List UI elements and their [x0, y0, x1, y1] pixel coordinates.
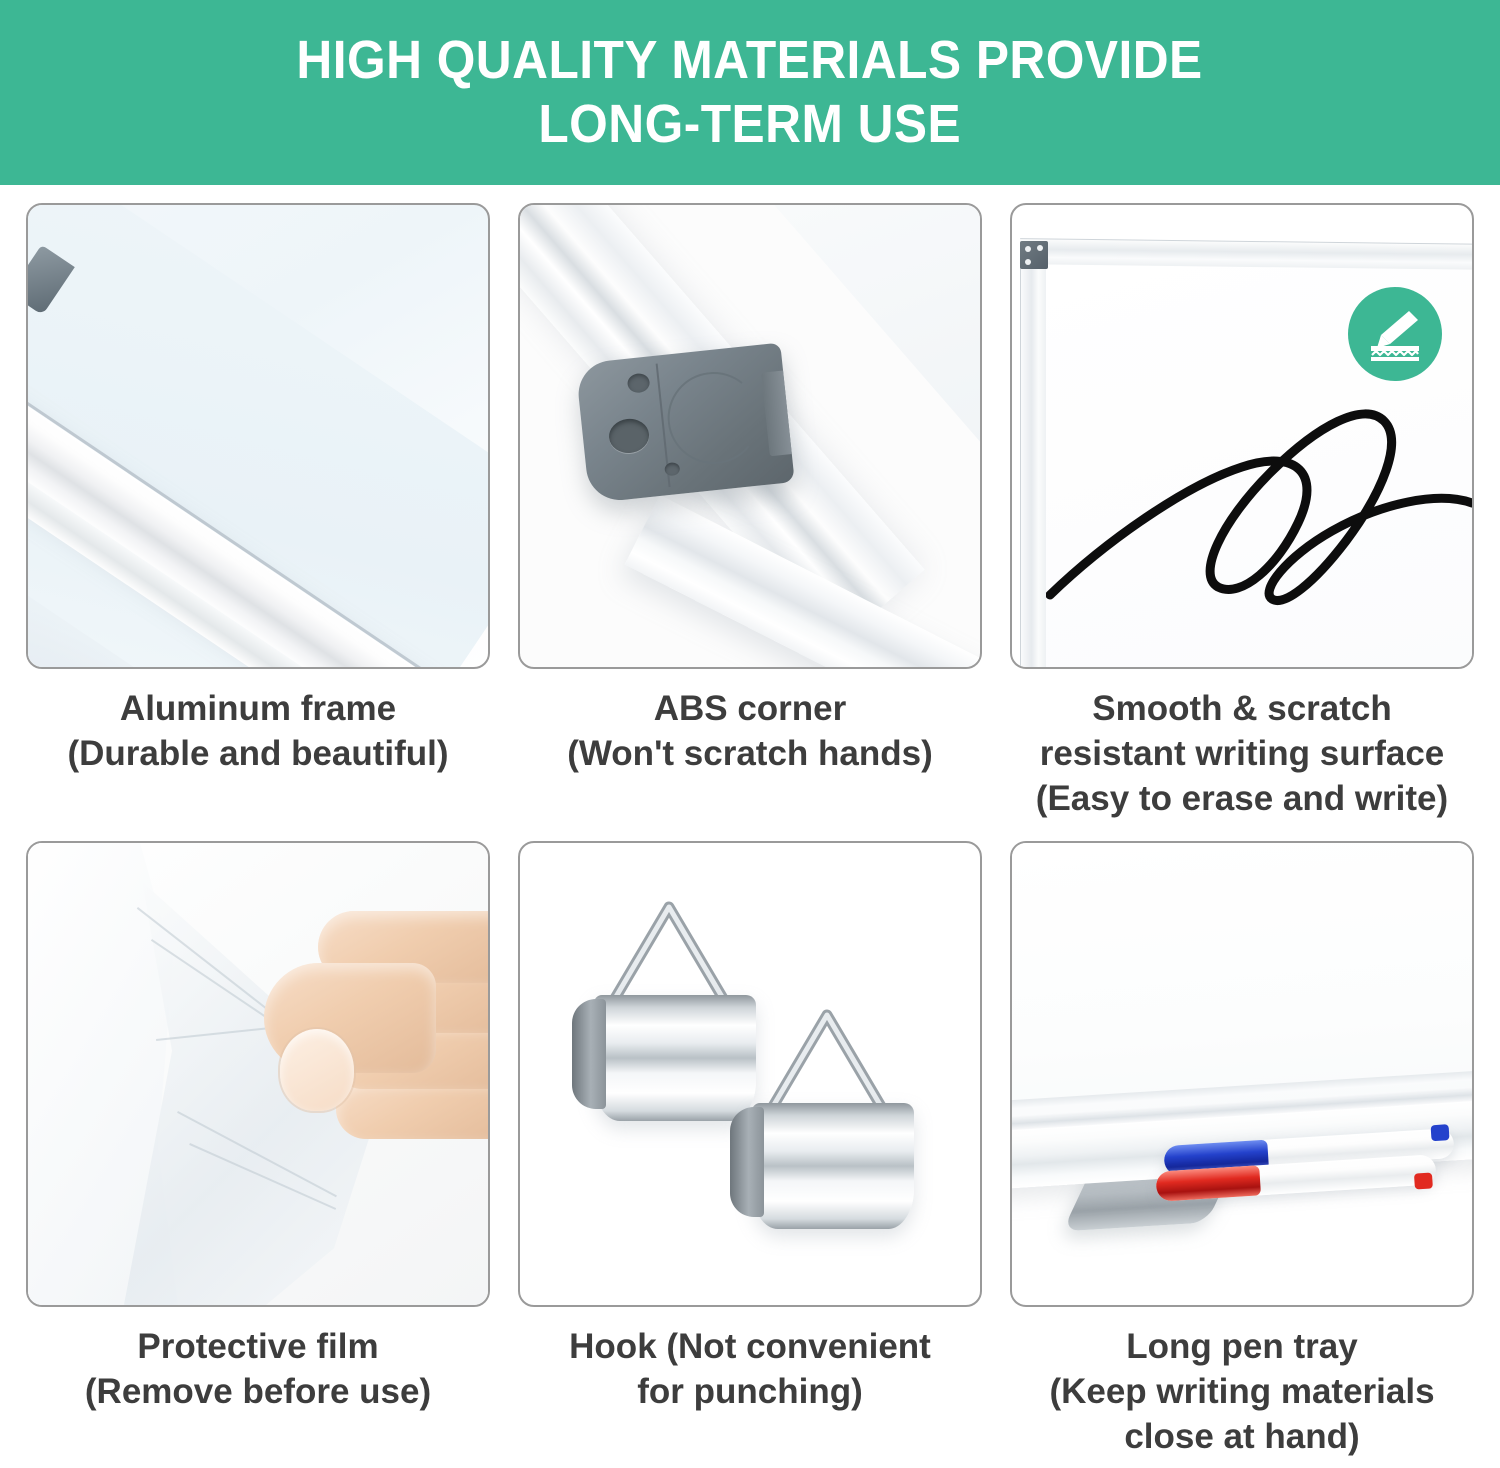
hook-clip-body [752, 1103, 914, 1229]
caption-line: Aluminum frame [30, 687, 486, 732]
thumbnail [280, 1029, 354, 1111]
caption-line: (Easy to erase and write) [1014, 777, 1470, 822]
caption-line: (Durable and beautiful) [30, 732, 486, 777]
caption-aluminum-frame: Aluminum frame (Durable and beautiful) [26, 687, 490, 777]
feature-cell-hook: Hook (Not convenient for punching) [518, 841, 982, 1459]
header-title-line-2: LONG-TERM USE [539, 93, 962, 157]
whiteboard-left-frame [1020, 265, 1046, 669]
abs-arc-detail [663, 367, 764, 468]
caption-line: close at hand) [1014, 1415, 1470, 1460]
caption-line: Protective film [30, 1325, 486, 1370]
whiteboard-top-frame [1020, 238, 1474, 270]
marker-scribble [1046, 345, 1474, 645]
bracket-screw [1037, 245, 1043, 251]
film-scene [28, 843, 488, 1305]
photo-writing-surface [1010, 203, 1474, 669]
thumb [264, 963, 436, 1073]
caption-line: for punching) [522, 1370, 978, 1415]
photo-pen-tray [1010, 841, 1474, 1307]
abs-screw-hole-tiny [664, 462, 680, 476]
pen-writing-on-surface-icon [1363, 302, 1427, 366]
bracket-screw [1025, 259, 1031, 265]
caption-line: (Keep writing materials [1014, 1370, 1470, 1415]
caption-line: Long pen tray [1014, 1325, 1470, 1370]
caption-protective-film: Protective film (Remove before use) [26, 1325, 490, 1415]
red-marker-clip [1414, 1173, 1433, 1190]
bracket-screw [1025, 246, 1031, 252]
caption-abs-corner: ABS corner (Won't scratch hands) [518, 687, 982, 777]
abs-screw-hole-large [607, 417, 650, 455]
feature-cell-pen-tray: Long pen tray (Keep writing materials cl… [1010, 841, 1474, 1459]
caption-pen-tray: Long pen tray (Keep writing materials cl… [1010, 1325, 1474, 1459]
caption-hook: Hook (Not convenient for punching) [518, 1325, 982, 1415]
photo-aluminum-frame [26, 203, 490, 669]
feature-cell-protective-film: Protective film (Remove before use) [26, 841, 490, 1459]
abs-corner-piece [575, 343, 795, 504]
hook-clip-body [594, 995, 756, 1121]
feature-cell-abs-corner: ABS corner (Won't scratch hands) [518, 203, 982, 821]
feature-cell-writing-surface: Smooth & scratch resistant writing surfa… [1010, 203, 1474, 821]
blue-marker-clip [1431, 1125, 1450, 1142]
caption-line: (Won't scratch hands) [522, 732, 978, 777]
header-title-line-1: HIGH QUALITY MATERIALS PROVIDE [297, 29, 1203, 93]
feature-grid: Aluminum frame (Durable and beautiful) [26, 203, 1474, 1460]
feature-cell-aluminum-frame: Aluminum frame (Durable and beautiful) [26, 203, 490, 821]
caption-line: resistant writing surface [1014, 732, 1470, 777]
caption-line: ABS corner [522, 687, 978, 732]
abs-notch [761, 370, 792, 456]
caption-writing-surface: Smooth & scratch resistant writing surfa… [1010, 687, 1474, 821]
caption-line: Hook (Not convenient [522, 1325, 978, 1370]
red-marker-cap [1155, 1166, 1261, 1202]
whiteboard-corner-bracket [1020, 241, 1048, 269]
photo-abs-corner [518, 203, 982, 669]
hand-peeling-film [264, 911, 490, 1211]
photo-hooks [518, 841, 982, 1307]
caption-line: (Remove before use) [30, 1370, 486, 1415]
scratch-resistant-badge [1348, 287, 1442, 381]
header-banner: HIGH QUALITY MATERIALS PROVIDE LONG-TERM… [0, 0, 1500, 185]
abs-screw-hole-small [627, 373, 651, 394]
photo-protective-film [26, 841, 490, 1307]
caption-line: Smooth & scratch [1014, 687, 1470, 732]
product-feature-infographic: HIGH QUALITY MATERIALS PROVIDE LONG-TERM… [0, 0, 1500, 1468]
